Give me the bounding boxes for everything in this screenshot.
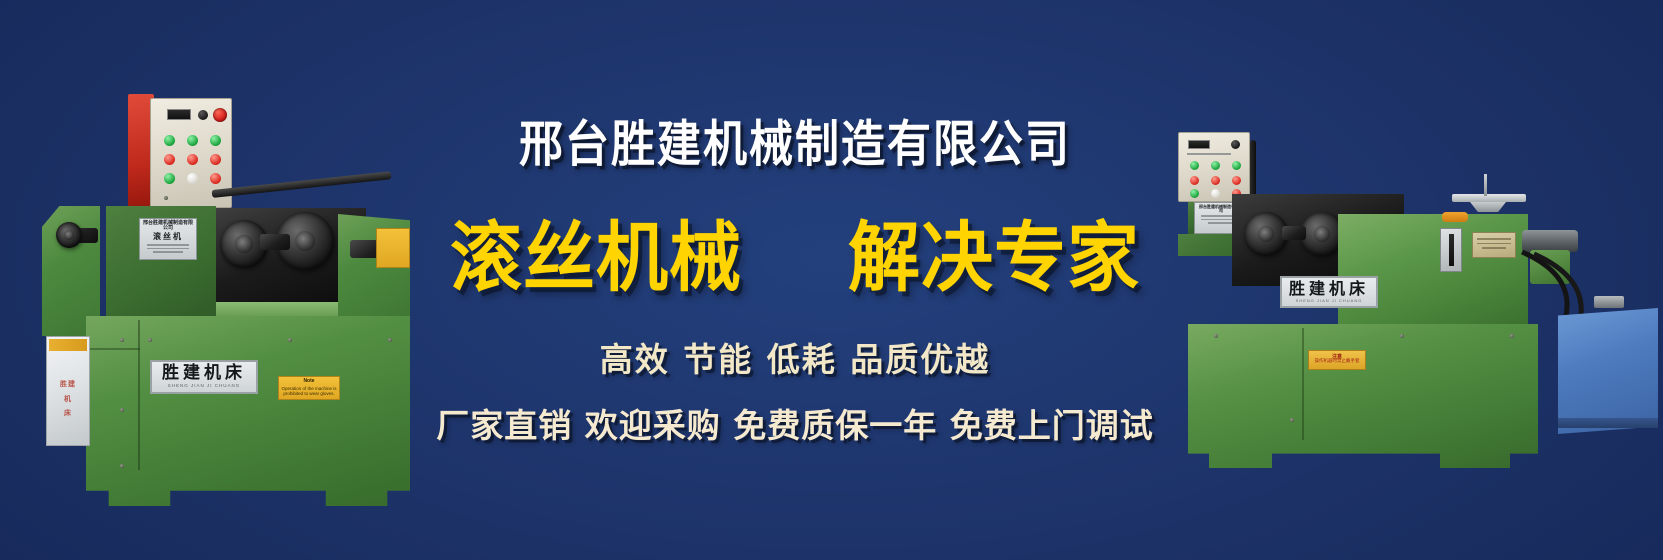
slide-gauge-unit-right (1440, 228, 1462, 272)
gauge-slot-right (1449, 234, 1454, 266)
selector-knob-right[interactable] (1231, 140, 1240, 149)
machine-right-thread-rolling: 邢台胜建机械制造有限公司 (1170, 118, 1663, 468)
start-button-left[interactable] (164, 135, 175, 146)
cabinet-seam-2-left (86, 348, 140, 350)
machine-base-cabinet-right (1188, 324, 1538, 468)
tie-bar-left (212, 171, 392, 198)
top-fixture-bracket-right (1470, 202, 1506, 212)
warning-sticker-left: Note Operation of the machine is prohibi… (278, 376, 340, 400)
retract-button-right[interactable] (1232, 176, 1241, 185)
top-fixture-post-right (1484, 174, 1487, 196)
top-fixture-plate-right (1452, 194, 1526, 202)
cabinet-seam-right (1302, 328, 1304, 440)
headline-left: 滚丝机械 (450, 195, 742, 306)
roller-spindle-left (260, 234, 290, 250)
selector-knob-left[interactable] (198, 110, 208, 120)
warning-title-left: Note (303, 379, 314, 385)
coolant-button-left[interactable] (164, 173, 175, 184)
promo-banner: 邢台胜建机械制造有限公司 滚丝机 (0, 0, 1663, 560)
cabinet-seam-1-left (138, 320, 140, 470)
jog-button-right[interactable] (1211, 161, 1220, 170)
headline-row: 滚丝机械 解决专家 (450, 198, 1140, 303)
emergency-stop-button-left[interactable] (213, 108, 227, 122)
subtitle-line-1: 高效 节能 低耗 品质优越 (600, 333, 990, 381)
nameplate-left-pinyin: SHENG JIAN JI CHUANG (168, 384, 241, 389)
feed-button-left[interactable] (210, 135, 221, 146)
nameplate-right-cn: 胜建机床 (1289, 281, 1369, 297)
nameplate-left: 胜建机床 SHENG JIAN JI CHUANG (150, 360, 258, 394)
warning-sticker-right: 注意 操作机器时禁止戴手套 (1308, 350, 1366, 370)
spec-plate-left: 邢台胜建机械制造有限公司 滚丝机 (139, 218, 197, 260)
tank-base-strip-right (1558, 418, 1658, 428)
spec-plate-model: 滚丝机 (143, 233, 193, 241)
side-panel-brand-text: 胜建机床 (47, 377, 89, 421)
reset-button-right[interactable] (1211, 189, 1220, 198)
roller-spindle-right (1282, 226, 1306, 240)
jog-button-left[interactable] (187, 135, 198, 146)
reverse-button-left[interactable] (187, 154, 198, 165)
machine-base-cabinet-left (86, 316, 410, 506)
company-name: 邢台胜建机械制造有限公司 (519, 104, 1071, 176)
warning-text-left: Operation of the machine is prohibited t… (281, 386, 337, 397)
cabinet-top-strip-left (49, 339, 87, 351)
machine-left-thread-rolling: 邢台胜建机械制造有限公司 滚丝机 (20, 88, 410, 468)
terminal-block-right (1442, 212, 1468, 222)
nameplate-right: 胜建机床 SHENG JIAN JI CHUANG (1280, 276, 1378, 308)
feed-button-right[interactable] (1232, 161, 1241, 170)
nameplate-left-cn: 胜建机床 (162, 365, 246, 382)
nameplate-right-pinyin: SHENG JIAN JI CHUANG (1296, 299, 1363, 303)
work-support-tray-left (216, 302, 346, 316)
subtitle-line-2: 厂家直销 欢迎采购 免费质保一年 免费上门调试 (436, 399, 1153, 447)
power-button-left[interactable] (210, 173, 221, 184)
headline-right: 解决专家 (848, 195, 1140, 306)
banner-text-block: 邢台胜建机械制造有限公司 滚丝机械 解决专家 高效 节能 低耗 品质优越 厂家直… (390, 0, 1200, 560)
reset-button-left[interactable] (187, 173, 198, 184)
reverse-button-right[interactable] (1211, 176, 1220, 185)
digital-display-left (167, 109, 191, 120)
warning-text-right: 操作机器时禁止戴手套 (1315, 360, 1360, 365)
electrical-cabinet-left[interactable]: 胜建机床 (46, 336, 90, 446)
spec-plate-company: 邢台胜建机械制造有限公司 (143, 221, 193, 231)
stop-button-left[interactable] (164, 154, 175, 165)
hose-fitting-1-right (1594, 296, 1624, 308)
retract-button-left[interactable] (210, 154, 221, 165)
drive-pulley-left (56, 222, 82, 248)
hydraulic-tank-right (1558, 308, 1658, 434)
